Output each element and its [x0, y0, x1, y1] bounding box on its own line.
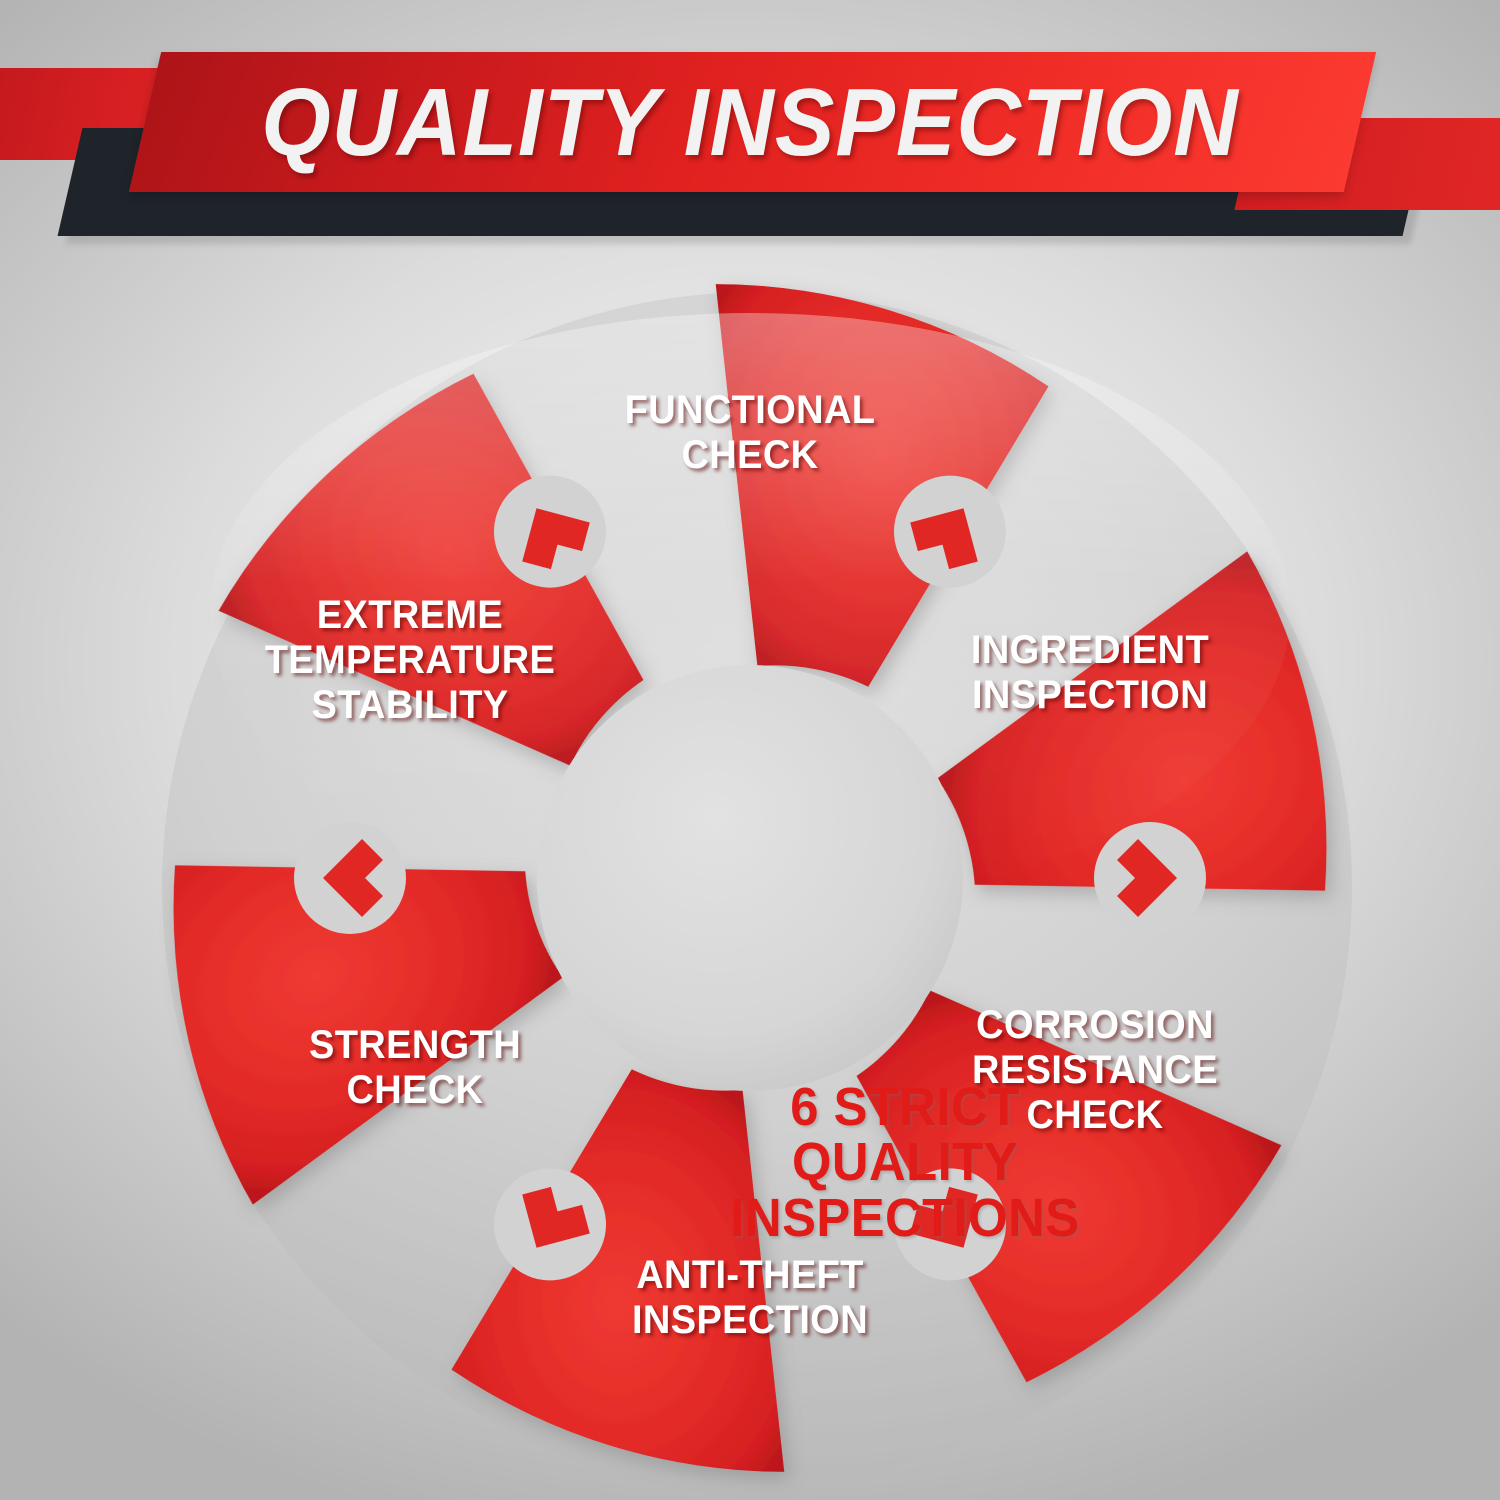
divider-icon-270[interactable] — [294, 822, 406, 934]
wheel-svg — [155, 283, 1345, 1473]
wheel-hub — [537, 665, 963, 1091]
quality-inspection-wheel: FUNCTIONAL CHECK INGREDIENT INSPECTION C… — [155, 283, 1345, 1473]
page-title: QUALITY INSPECTION — [53, 58, 1448, 188]
divider-icon-90[interactable] — [1094, 822, 1206, 934]
infographic-canvas: QUALITY INSPECTION — [0, 0, 1500, 1500]
header-banner: QUALITY INSPECTION — [0, 0, 1500, 260]
